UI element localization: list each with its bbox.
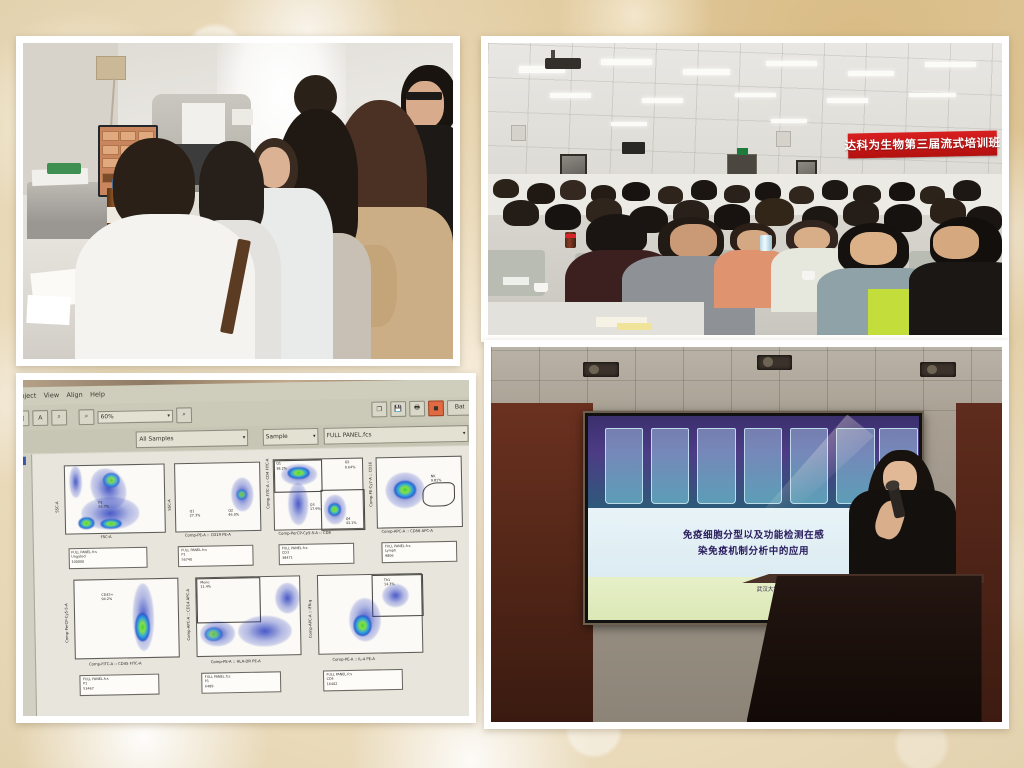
plot1-gate-pct: 56.7% — [98, 505, 109, 509]
plot1-stats-box: FULL PANEL.fcs Ungated 100000 — [68, 546, 148, 569]
plot3-q1-pct: 38.2% — [276, 466, 287, 470]
water-bottle — [760, 235, 771, 252]
lab-demo-photo — [16, 36, 460, 366]
plot-cd3-vs-cd19[interactable]: Q1 27.3% Q2 46.0% — [174, 461, 262, 532]
source-type-value: Sample — [266, 434, 288, 441]
plot2-gate-pct-2: 46.0% — [228, 513, 239, 517]
zoom-level-value: 60% — [101, 414, 114, 421]
sticky-note — [617, 323, 653, 331]
zoom-icon[interactable]: ⌕ — [78, 410, 94, 426]
ceiling-projector — [545, 58, 581, 70]
plot7-y-label: Comp-APC-A :: IFN-g — [308, 600, 313, 639]
plot1-gate-label: P1 56.7% — [98, 500, 109, 509]
training-banner: 达科为生物第三届流式培训班 — [848, 130, 998, 158]
text-icon[interactable]: A — [32, 411, 48, 427]
green-lab-item — [47, 163, 81, 174]
plot5-gate-pct: 94.2% — [101, 597, 112, 601]
menu-object[interactable]: Object — [23, 393, 36, 401]
plot3-stat-file: FULL PANEL.fcs — [282, 545, 308, 550]
plot7-stat-file: FULL PANEL.fcs — [326, 672, 352, 677]
plot5-stat-file: FULL PANEL.fcs — [83, 676, 109, 681]
menu-view[interactable]: View — [44, 392, 60, 400]
instrument-label-sheet — [182, 103, 225, 147]
plot7-stat-count: 16402 — [327, 682, 338, 686]
plot6-stat-pop: P1 — [205, 679, 209, 683]
downlight-left-icon — [583, 362, 619, 377]
plot3-stat-count: 38471 — [282, 556, 293, 560]
plot-ifng-vs-il4[interactable]: Th1 14.3% — [317, 573, 424, 655]
ceiling-speaker-right — [776, 131, 791, 148]
plot5-stat-count: 53467 — [83, 687, 94, 691]
banner-text: 达科为生物第三届流式培训班 — [844, 135, 1000, 154]
plot1-stat-file: FULL PANEL.fcs — [71, 549, 97, 554]
speaker-photo-image: 免疫细胞分型以及功能检测在感 染免疫机制分析中的应用 武汉大学基础医学院免疫学系… — [491, 347, 1002, 722]
zoom-level-combo[interactable]: 60%▾ — [97, 410, 173, 424]
select-icon[interactable]: ▣ — [23, 411, 29, 427]
slide-title-line1: 免疫细胞分型以及功能检测在感 — [683, 527, 824, 541]
instrument-label-sticker — [232, 109, 254, 125]
slide-title-line2: 染免疫机制分析中的应用 — [698, 543, 809, 557]
plot2-gate-pct: 27.3% — [190, 514, 201, 518]
plot3-q2-pct: 0.64% — [345, 465, 356, 469]
plot-cd14-vs-hladr[interactable]: Mono 11.4% — [195, 575, 302, 657]
eyeglasses-icon — [406, 92, 443, 100]
desk-item — [503, 277, 529, 285]
plot3-stats-box: FULL PANEL.fcs CD3 38471 — [279, 542, 354, 565]
plot1-stat-count: 100000 — [71, 560, 84, 564]
copy-icon[interactable]: ❐ — [371, 401, 387, 417]
menu-help[interactable]: Help — [90, 391, 105, 399]
plot6-stat-count: 6489 — [205, 684, 214, 688]
plot2-stat-file: FULL PANEL.fcs — [181, 547, 207, 552]
plot4-stat-count: 9806 — [385, 554, 394, 558]
plot-cd45-vs-ssc[interactable]: CD45+ 94.2% — [73, 578, 180, 660]
exit-sign-icon — [737, 148, 747, 154]
plot2-stat-pop: P1 — [181, 553, 185, 557]
plot2-y-label: SSC-A — [168, 499, 172, 510]
plot-ssc-vs-fsc[interactable]: P1 56.7% — [64, 463, 166, 534]
plot1-stat-pop: Ungated — [71, 555, 85, 559]
batch-icon[interactable]: Bat — [447, 400, 469, 416]
plot7-stat-pop: CD4 — [327, 677, 334, 681]
downlight-right-icon — [920, 362, 956, 377]
plot3-q3-pct: 17.9% — [310, 507, 321, 511]
plot4-stat-file: FULL PANEL.fcs — [385, 543, 411, 548]
plot4-stat-pop: Lymph — [385, 549, 396, 553]
wall-outlet-icon — [96, 56, 126, 80]
plot6-gate-pct: 11.4% — [200, 585, 211, 589]
toolbar-right-group[interactable]: ❐ 💾 🖶 ◼ Bat — [371, 400, 469, 418]
plot4-stats-box: FULL PANEL.fcs Lymph 9806 — [382, 540, 457, 563]
stop-icon[interactable]: ◼ — [428, 400, 444, 416]
ceiling-speaker-left — [511, 125, 526, 142]
plot4-gate-pct: 9.81% — [431, 478, 442, 482]
plot6-stats-box: FULL PANEL.fcs P1 6489 — [202, 671, 282, 694]
lab-demo-photo-image — [23, 43, 453, 359]
plot5-stat-pop: P1 — [83, 682, 87, 686]
sample-scope-combo[interactable]: All Samples▾ — [136, 429, 249, 447]
plot3-stat-pop: CD3 — [282, 551, 289, 555]
paper-cup-left — [534, 283, 547, 292]
plot7-x-label: Comp-PE-A :: IL-4 PE-A — [332, 657, 375, 662]
speaker-photo: 免疫细胞分型以及功能检测在感 染免疫机制分析中的应用 武汉大学基础医学院免疫学系… — [484, 340, 1009, 729]
classroom-photo-image: 达科为生物第三届流式培训班 — [488, 43, 1002, 335]
paper-cup-right — [802, 271, 815, 280]
plot7-gate-pct: 14.3% — [384, 582, 395, 586]
plot7-stats-box: FULL PANEL.fcs CD4 16402 — [323, 668, 403, 691]
sample-scope-value: All Samples — [139, 436, 173, 443]
fcs-file-combo[interactable]: FULL PANEL.fcs▾ — [323, 425, 468, 444]
flow-software-photo-image: Object View Align Help ▣ A ⌕ ⌕ 60%▾ ⌕ ❐ … — [23, 380, 469, 716]
audience-rows — [488, 183, 1002, 335]
auditorium-ceiling — [491, 347, 1002, 411]
save-icon[interactable]: 💾 — [390, 401, 406, 417]
flow-software-photo: Object View Align Help ▣ A ⌕ ⌕ 60%▾ ⌕ ❐ … — [16, 373, 476, 723]
plot5-y-label: Comp-PerCP-Cy5-5-A — [64, 604, 69, 644]
zoom-fit-icon[interactable]: ⌕ — [176, 408, 192, 424]
plot6-stat-file: FULL PANEL.fcs — [205, 674, 231, 679]
wall-monitor — [622, 142, 645, 154]
menu-align[interactable]: Align — [66, 392, 82, 400]
plot-cd4-vs-cd8[interactable]: Q1 38.2% Q2 0.64% Q3 17.9% Q4 43.1% — [272, 458, 364, 531]
bench-document-2 — [27, 295, 71, 326]
plot5-stats-box: FULL PANEL.fcs P1 53467 — [80, 673, 160, 696]
wood-wall-left — [491, 403, 593, 722]
plot1-x-label: FSC-A — [101, 535, 112, 539]
plot-cd56-vs-cd16[interactable]: NK 9.81% — [375, 456, 463, 529]
plot2-stat-count: 56740 — [181, 558, 192, 562]
zoom-region-icon[interactable]: ⌕ — [51, 410, 67, 426]
plot2-x-label: Comp-PE-A :: CD19 PE-A — [185, 533, 231, 538]
classroom-photo: 达科为生物第三届流式培训班 — [481, 36, 1009, 342]
soda-bottle — [565, 232, 576, 249]
source-type-combo[interactable]: Sample▾ — [262, 428, 318, 445]
podium — [747, 576, 982, 722]
plot1-y-label: SSC-A — [55, 501, 59, 512]
plot3-q4-pct: 43.1% — [346, 521, 357, 525]
downlight-center-icon — [757, 355, 793, 370]
print-icon[interactable]: 🖶 — [409, 401, 425, 417]
fcs-file-value: FULL PANEL.fcs — [327, 432, 372, 439]
plot2-stats-box: FULL PANEL.fcs P1 56740 — [178, 544, 253, 567]
